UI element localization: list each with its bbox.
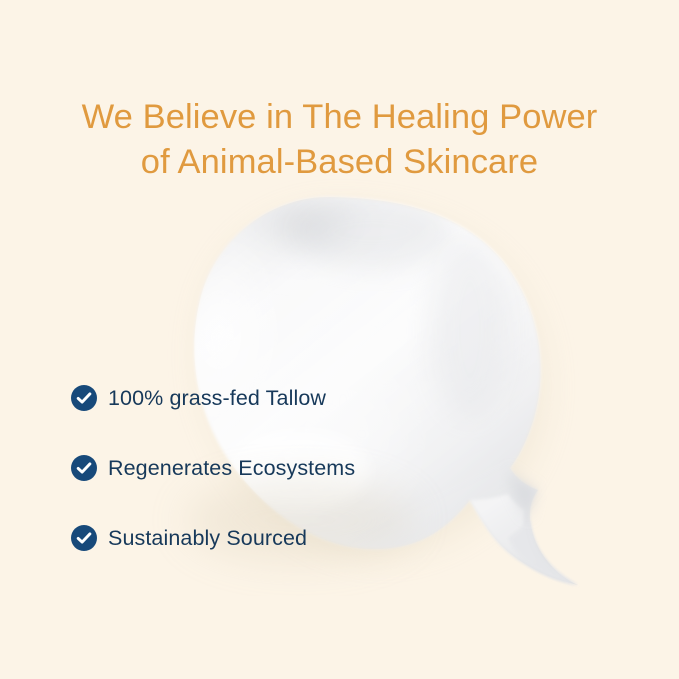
check-circle-icon — [71, 455, 97, 481]
feature-item-sustainably-sourced: Sustainably Sourced — [71, 524, 355, 552]
feature-label: Sustainably Sourced — [108, 525, 307, 551]
check-circle-icon — [71, 525, 97, 551]
promo-banner: We Believe in The Healing Power of Anima… — [0, 0, 679, 679]
check-circle-icon — [71, 385, 97, 411]
page-title-line-2: of Animal-Based Skincare — [0, 140, 679, 185]
feature-item-regenerates-ecosystems: Regenerates Ecosystems — [71, 454, 355, 482]
feature-list: 100% grass-fed Tallow Regenerates Ecosys… — [71, 384, 355, 552]
feature-label: Regenerates Ecosystems — [108, 455, 355, 481]
page-title: We Believe in The Healing Power of Anima… — [0, 95, 679, 185]
feature-item-grass-fed-tallow: 100% grass-fed Tallow — [71, 384, 355, 412]
page-title-line-1: We Believe in The Healing Power — [0, 95, 679, 140]
feature-label: 100% grass-fed Tallow — [108, 385, 326, 411]
